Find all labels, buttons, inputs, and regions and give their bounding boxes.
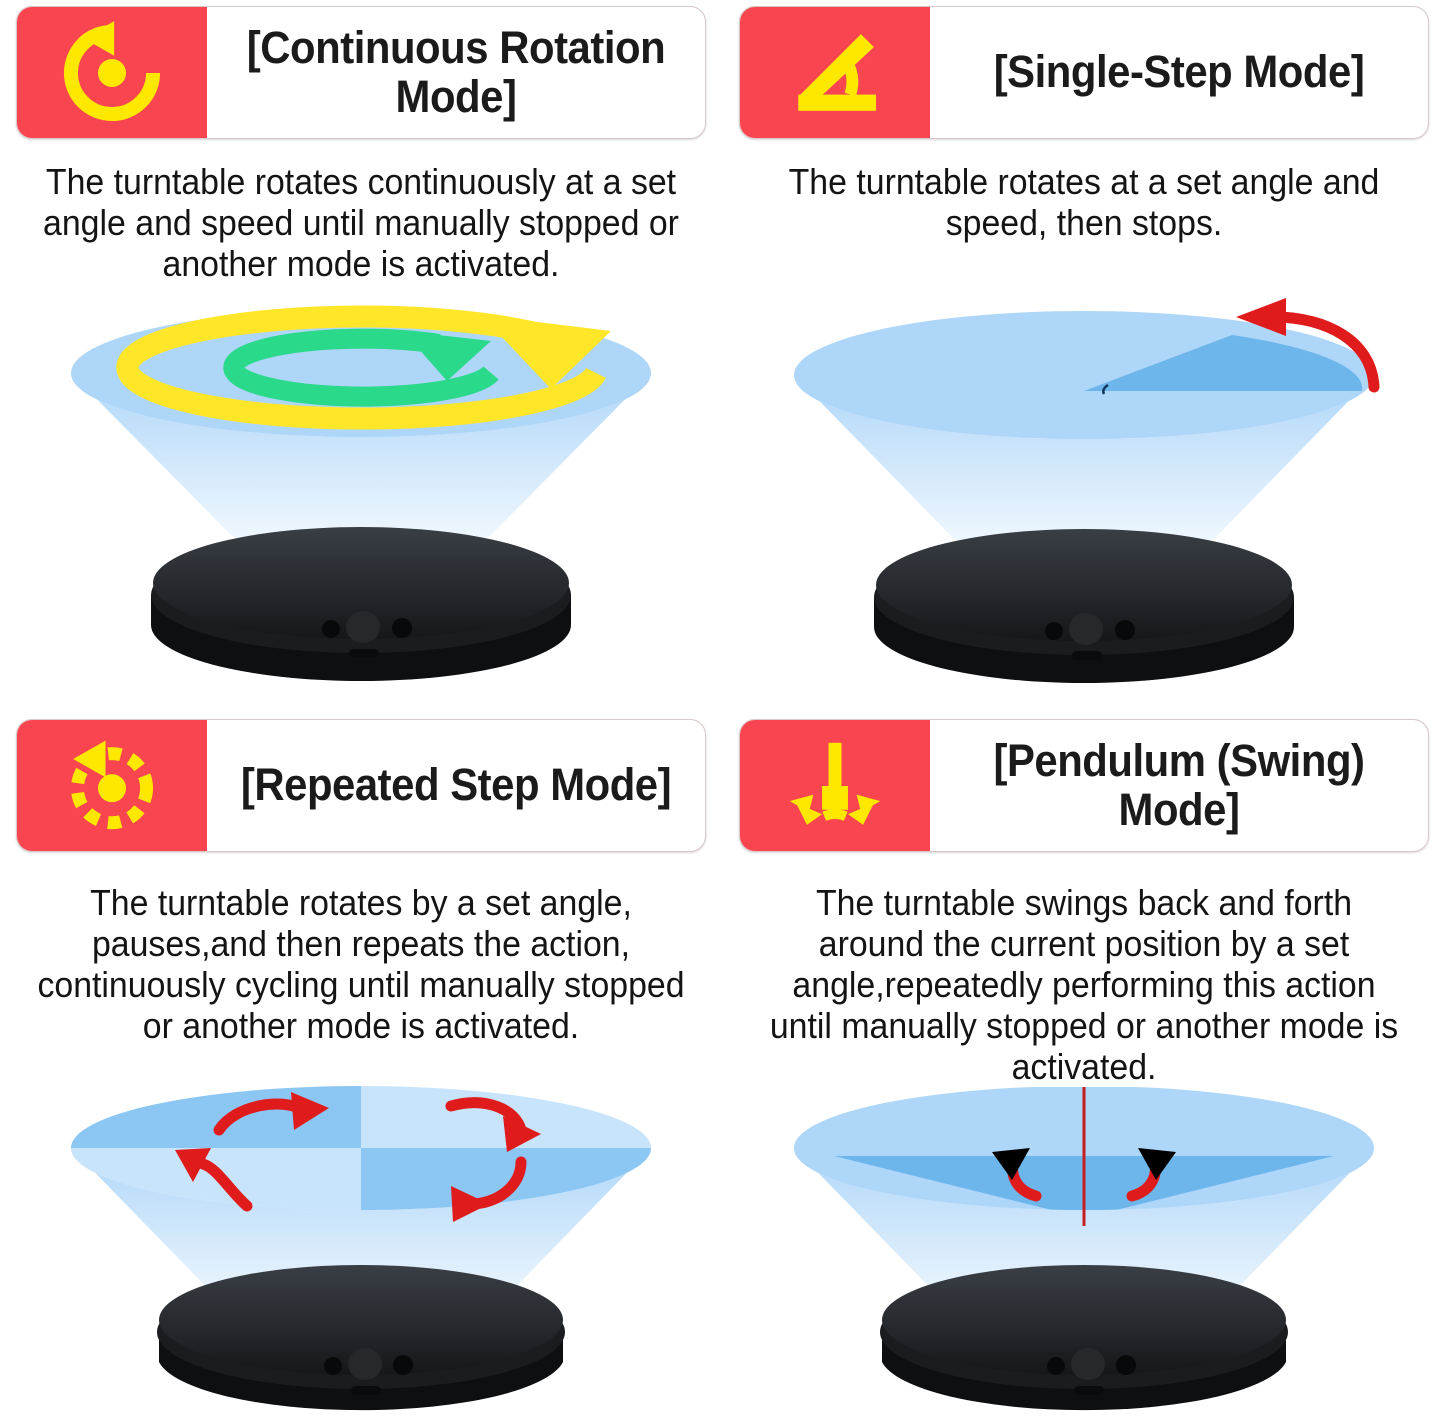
- speed-knob: [346, 611, 380, 643]
- pendulum-swing-arrows-icon: [781, 732, 889, 840]
- mode-header-continuous-rotation: [Continuous Rotation Mode]: [16, 6, 706, 139]
- badge-pendulum-swing: [740, 720, 930, 851]
- mode-title-pendulum-swing: [Pendulum (Swing) Mode]: [947, 720, 1410, 851]
- mode-infographic-board: [Continuous Rotation Mode] The turntable…: [0, 0, 1445, 1426]
- angle-measure-icon: [781, 19, 889, 127]
- badge-single-step: [740, 7, 930, 138]
- mode-description-continuous-rotation: The turntable rotates continuously at a …: [37, 161, 686, 284]
- rotating-display-turntable: [874, 529, 1294, 683]
- dc-power-jack: [1116, 1355, 1136, 1375]
- panel-continuous-rotation: [Continuous Rotation Mode] The turntable…: [0, 0, 722, 713]
- power-button: [1045, 622, 1063, 640]
- mode-title-continuous-rotation: [Continuous Rotation Mode]: [224, 7, 687, 138]
- badge-continuous-rotation: [17, 7, 207, 138]
- panel-repeated-step: [Repeated Step Mode] The turntable rotat…: [0, 713, 722, 1426]
- usb-c-port: [351, 1386, 381, 1395]
- speed-knob: [348, 1348, 382, 1380]
- mode-description-pendulum-swing: The turntable swings back and forth arou…: [759, 882, 1408, 1087]
- power-button: [1047, 1357, 1065, 1375]
- badge-repeated-step: [17, 720, 207, 851]
- mode-title-single-step: [Single-Step Mode]: [947, 7, 1410, 138]
- quadrant-disc: [71, 1086, 651, 1210]
- rotating-display-turntable: [157, 1265, 565, 1410]
- turntable-continuous-rotation-illustration: [12, 284, 710, 695]
- dc-power-jack: [1115, 620, 1135, 640]
- mode-panel-grid: [Continuous Rotation Mode] The turntable…: [0, 0, 1445, 1426]
- usb-c-port: [349, 649, 379, 658]
- panel-pendulum-swing: [Pendulum (Swing) Mode] The turntable sw…: [722, 713, 1445, 1426]
- circular-rotation-arrow-icon: [58, 19, 166, 127]
- mode-header-pendulum-swing: [Pendulum (Swing) Mode]: [739, 719, 1429, 852]
- dc-power-jack: [393, 1355, 413, 1375]
- turntable-single-step-illustration: [734, 243, 1433, 695]
- turntable-repeated-step-illustration: [12, 1046, 710, 1426]
- mode-description-single-step: The turntable rotates at a set angle and…: [759, 161, 1408, 243]
- usb-c-port: [1074, 1386, 1104, 1395]
- turntable-pendulum-swing-illustration: [734, 1087, 1433, 1426]
- mode-header-repeated-step: [Repeated Step Mode]: [16, 719, 706, 852]
- speed-knob: [1069, 613, 1103, 645]
- usb-c-port: [1072, 651, 1102, 660]
- dashed-circular-arrow-icon: [58, 732, 166, 840]
- panel-single-step: [Single-Step Mode] The turntable rotates…: [722, 0, 1445, 713]
- rotating-display-turntable: [880, 1265, 1288, 1410]
- mode-title-repeated-step: [Repeated Step Mode]: [224, 720, 687, 851]
- power-button: [324, 1357, 342, 1375]
- rotating-display-turntable: [151, 527, 571, 681]
- speed-knob: [1071, 1348, 1105, 1380]
- mode-header-single-step: [Single-Step Mode]: [739, 6, 1429, 139]
- power-button: [322, 620, 340, 638]
- mode-description-repeated-step: The turntable rotates by a set angle, pa…: [37, 882, 686, 1046]
- dc-power-jack: [392, 618, 412, 638]
